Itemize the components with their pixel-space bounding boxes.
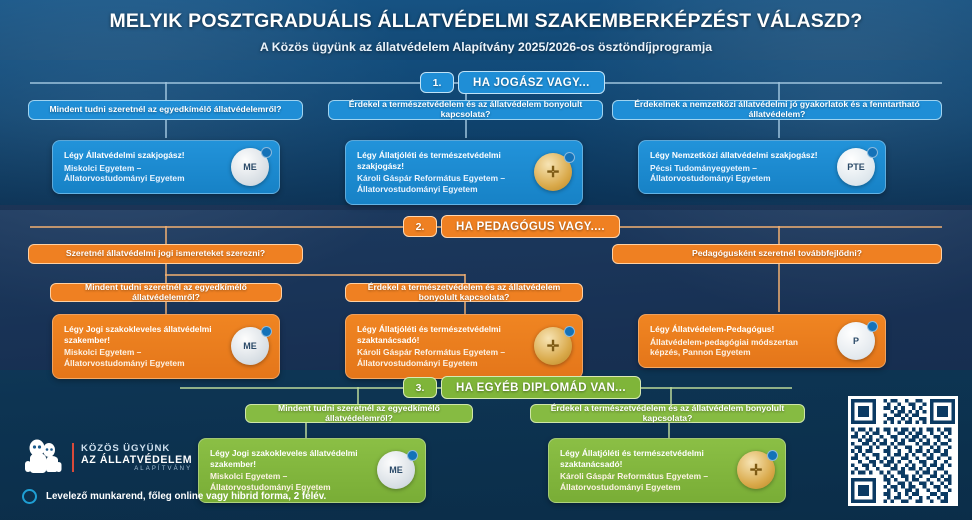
result-card-university: Károli Gáspár Református Egyetem – Állat… <box>357 173 520 195</box>
page-title: MELYIK POSZTGRADUÁLIS ÁLLATVÉDELMI SZAKE… <box>0 10 972 33</box>
result-card-title: Légy Állatvédelem-Pedagógus! <box>650 324 823 335</box>
header: MELYIK POSZTGRADUÁLIS ÁLLATVÉDELMI SZAKE… <box>0 10 972 54</box>
karoli-logo-icon: ✛ <box>534 153 572 191</box>
connector-line <box>357 387 359 404</box>
qr-code-icon[interactable] <box>848 396 958 506</box>
connector-line <box>778 120 780 138</box>
result-card-university: Állatvédelem-pedagógiai módszertan képzé… <box>650 337 823 359</box>
miskolc-logo-icon: ME <box>377 451 415 489</box>
step-title-3: HA EGYÉB DIPLOMÁD VAN... <box>441 376 641 399</box>
step-number-2: 2. <box>403 216 437 237</box>
question-box[interactable]: Pedagógusként szeretnél továbbfejlődni? <box>612 244 942 264</box>
question-box[interactable]: Mindent tudni szeretnél az egyedkímélő á… <box>28 100 303 120</box>
connector-line <box>165 226 167 244</box>
karoli-logo-icon: ✛ <box>534 327 572 365</box>
connector-line <box>465 120 467 138</box>
result-card-title: Légy Állatjóléti és természetvédelmi sza… <box>357 324 520 345</box>
result-card-title: Légy Jogi szakokleveles állatvédelmi sza… <box>64 324 217 345</box>
connector-line <box>668 423 670 438</box>
connector-line <box>165 82 167 100</box>
result-card-title: Légy Állatjóléti és természetvédelmi sza… <box>560 448 723 469</box>
result-card-title: Légy Jogi szakokleveles állatvédelmi sza… <box>210 448 363 469</box>
result-card[interactable]: Légy Jogi szakokleveles állatvédelmi sza… <box>52 314 280 379</box>
question-box[interactable]: Érdekel a természetvédelem és az állatvé… <box>328 100 603 120</box>
question-box[interactable]: Érdekelnek a nemzetközi állatvédelmi jó … <box>612 100 942 120</box>
question-box[interactable]: Mindent tudni szeretnél az egyedkímélő á… <box>245 404 473 423</box>
result-card-title: Légy Állatvédelmi szakjogász! <box>64 150 217 161</box>
connector-line <box>464 302 466 314</box>
foundation-name-line3: ALAPÍTVÁNY <box>81 466 192 472</box>
result-card-title: Légy Állatjóléti és természetvédelmi sza… <box>357 150 520 171</box>
foundation-logo: KÖZÖS ÜGYÜNK AZ ÁLLATVÉDELEM ALAPÍTVÁNY <box>22 437 192 477</box>
foundation-mark-icon <box>22 437 64 477</box>
result-card-title: Légy Nemzetközi állatvédelmi szakjogász! <box>650 150 823 161</box>
result-card[interactable]: Légy Állatjóléti és természetvédelmi sza… <box>548 438 786 503</box>
karoli-logo-mark: ✛ <box>547 165 560 180</box>
connector-line <box>165 302 167 314</box>
miskolc-logo-icon: ME <box>231 148 269 186</box>
result-card[interactable]: Légy Állatjóléti és természetvédelmi sza… <box>345 140 583 205</box>
result-card-university: Miskolci Egyetem – Állatorvostudományi E… <box>64 347 217 369</box>
footnote-text: Levelező munkarend, főleg online vagy hi… <box>46 491 326 502</box>
step-title-1: HA JOGÁSZ VAGY... <box>458 71 605 94</box>
circle-bullet-icon <box>22 489 37 504</box>
foundation-name-line1: KÖZÖS ÜGYÜNK <box>81 443 192 454</box>
result-card-university: Károli Gáspár Református Egyetem – Állat… <box>357 347 520 369</box>
karoli-logo-mark: ✛ <box>750 463 763 478</box>
result-card[interactable]: Légy Állatvédelem-Pedagógus! Állatvédele… <box>638 314 886 368</box>
result-card-university: Pécsi Tudományegyetem – Állatorvostudomá… <box>650 163 823 185</box>
connector-line <box>305 423 307 438</box>
footnote: Levelező munkarend, főleg online vagy hi… <box>22 489 326 504</box>
result-card[interactable]: Légy Állatvédelmi szakjogász! Miskolci E… <box>52 140 280 194</box>
step-title-2: HA PEDAGÓGUS VAGY.... <box>441 215 620 238</box>
result-card-university: Miskolci Egyetem – Állatorvostudományi E… <box>64 163 217 185</box>
connector-line <box>778 226 780 244</box>
connector-line <box>670 387 672 404</box>
miskolc-logo-mark: ME <box>389 466 403 475</box>
result-card[interactable]: Légy Állatjóléti és természetvédelmi sza… <box>345 314 583 379</box>
connector-line <box>778 264 780 312</box>
step-number-1: 1. <box>420 72 454 93</box>
foundation-logo-text: KÖZÖS ÜGYÜNK AZ ÁLLATVÉDELEM ALAPÍTVÁNY <box>72 443 192 472</box>
connector-line <box>165 264 167 274</box>
page-subtitle: A Közös ügyünk az állatvédelem Alapítván… <box>0 40 972 54</box>
pannon-logo-icon: P <box>837 322 875 360</box>
pecs-logo-icon: PTE <box>837 148 875 186</box>
question-box[interactable]: Érdekel a természetvédelem és az állatvé… <box>345 283 583 302</box>
result-card-university: Károli Gáspár Református Egyetem – Állat… <box>560 471 723 493</box>
question-box[interactable]: Mindent tudni szeretnél az egyedkímélő á… <box>50 283 282 302</box>
connector-line <box>165 274 465 276</box>
infographic-canvas: MELYIK POSZTGRADUÁLIS ÁLLATVÉDELMI SZAKE… <box>0 0 972 520</box>
miskolc-logo-mark: ME <box>243 163 257 172</box>
miskolc-logo-mark: ME <box>243 342 257 351</box>
karoli-logo-mark: ✛ <box>547 339 560 354</box>
foundation-name-line2: AZ ÁLLATVÉDELEM <box>81 454 192 466</box>
step-number-3: 3. <box>403 377 437 398</box>
pecs-logo-mark: PTE <box>847 163 865 172</box>
pannon-logo-mark: P <box>853 337 859 346</box>
miskolc-logo-icon: ME <box>231 327 269 365</box>
question-box[interactable]: Szeretnél állatvédelmi jogi ismereteket … <box>28 244 303 264</box>
connector-line <box>165 120 167 138</box>
result-card[interactable]: Légy Nemzetközi állatvédelmi szakjogász!… <box>638 140 886 194</box>
connector-line <box>778 82 780 100</box>
question-box[interactable]: Érdekel a természetvédelem és az állatvé… <box>530 404 805 423</box>
karoli-logo-icon: ✛ <box>737 451 775 489</box>
